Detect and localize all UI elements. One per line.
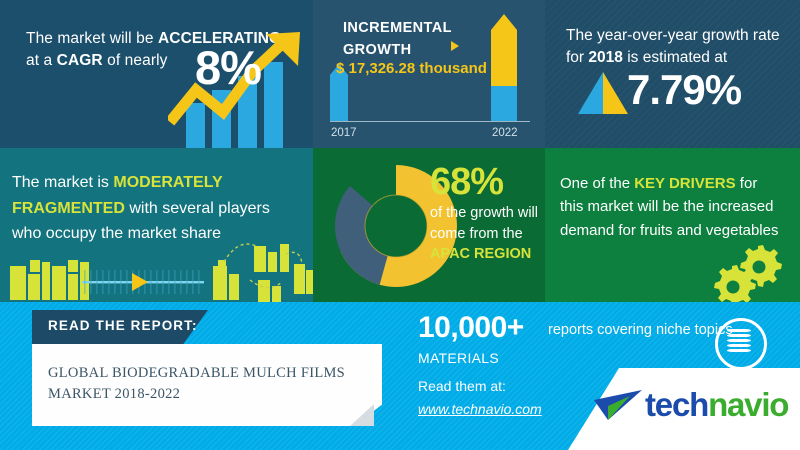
kd-text-2: for (736, 175, 758, 192)
report-title-line2: MARKET 2018-2022 (48, 386, 180, 402)
infographic-page: The market will be ACCELERATING at a CAG… (0, 0, 800, 450)
frag-text-bold-2: FRAGMENTED (12, 200, 125, 217)
cagr-text-1: The market will be (26, 30, 158, 47)
apac-text-2: come from the (430, 226, 523, 242)
triangle-growth-icon (575, 70, 635, 118)
yoy-text-1: The year-over-year growth rate (566, 27, 780, 44)
play-triangle-icon (451, 41, 459, 51)
cagr-value: 8% (195, 44, 261, 91)
apac-region-label: APAC REGION (430, 246, 531, 262)
incremental-growth-title-line2: GROWTH (343, 42, 411, 58)
materials-label: MATERIALS (418, 350, 499, 366)
incremental-growth-value: $ 17,326.28 thousand (336, 58, 546, 79)
report-count: 10,000+ (418, 313, 524, 343)
gears-icon (712, 240, 792, 302)
kd-text-1: One of the (560, 175, 634, 192)
technavio-url-link[interactable]: www.technavio.com (418, 401, 542, 417)
kd-text-3: this market will be the increased (560, 198, 773, 215)
fragmentation-copy: The market is MODERATELY FRAGMENTED with… (12, 170, 307, 247)
yoy-copy: The year-over-year growth rate for 2018 … (566, 25, 791, 69)
apac-value: 68% (430, 163, 503, 201)
frag-text-2: with several players (125, 200, 270, 217)
kd-text-4: demand for fruits and vegetables (560, 222, 778, 239)
yoy-text-bold-1: 2018 (588, 49, 622, 66)
technavio-wordmark[interactable]: technavio (645, 388, 788, 421)
incremental-growth-axis (330, 121, 530, 122)
kd-text-bold-1: KEY DRIVERS (634, 175, 735, 192)
top-row: The market will be ACCELERATING at a CAG… (0, 0, 800, 148)
database-stack-icon (727, 329, 751, 355)
buildings-right-cluster (213, 244, 313, 304)
logo-text-navio: navio (708, 386, 788, 423)
yoy-text-2: for (566, 49, 588, 66)
frag-text-bold-1: MODERATELY (113, 174, 222, 191)
apac-copy: of the growth will come from the APAC RE… (430, 203, 548, 265)
report-title-line1: GLOBAL BIODEGRADABLE MULCH FILMS (48, 365, 345, 381)
technavio-logo-mark-icon[interactable] (590, 386, 648, 430)
frag-text-1: The market is (12, 174, 113, 191)
panel-cagr: The market will be ACCELERATING at a CAG… (0, 0, 313, 148)
axis-label-start: 2017 (331, 125, 357, 141)
buildings-left-cluster (10, 260, 89, 300)
key-drivers-copy: One of the KEY DRIVERS for this market w… (560, 172, 798, 242)
migration-arrow-icon (82, 270, 204, 294)
incremental-growth-title: INCREMENTAL GROWTH (343, 18, 523, 62)
report-count-suffix: reports covering niche topics (548, 322, 733, 338)
market-share-city-graphic (0, 240, 313, 310)
read-the-report-label: READ THE REPORT: (48, 318, 198, 333)
yoy-value: 7.79% (627, 69, 741, 111)
read-them-at-label: Read them at: (418, 378, 506, 394)
incremental-growth-title-line1: INCREMENTAL (343, 20, 452, 36)
apac-text-1: of the growth will (430, 205, 538, 221)
cagr-text-2: at a (26, 52, 57, 69)
cagr-text-3: of nearly (103, 52, 168, 69)
logo-text-tech: tech (645, 386, 708, 423)
cagr-text-bold-2: CAGR (57, 52, 103, 69)
axis-label-end: 2022 (492, 125, 518, 141)
database-circle-icon (715, 318, 767, 370)
report-title: GLOBAL BIODEGRADABLE MULCH FILMS MARKET … (48, 363, 366, 405)
yoy-text-3: is estimated at (623, 49, 727, 66)
